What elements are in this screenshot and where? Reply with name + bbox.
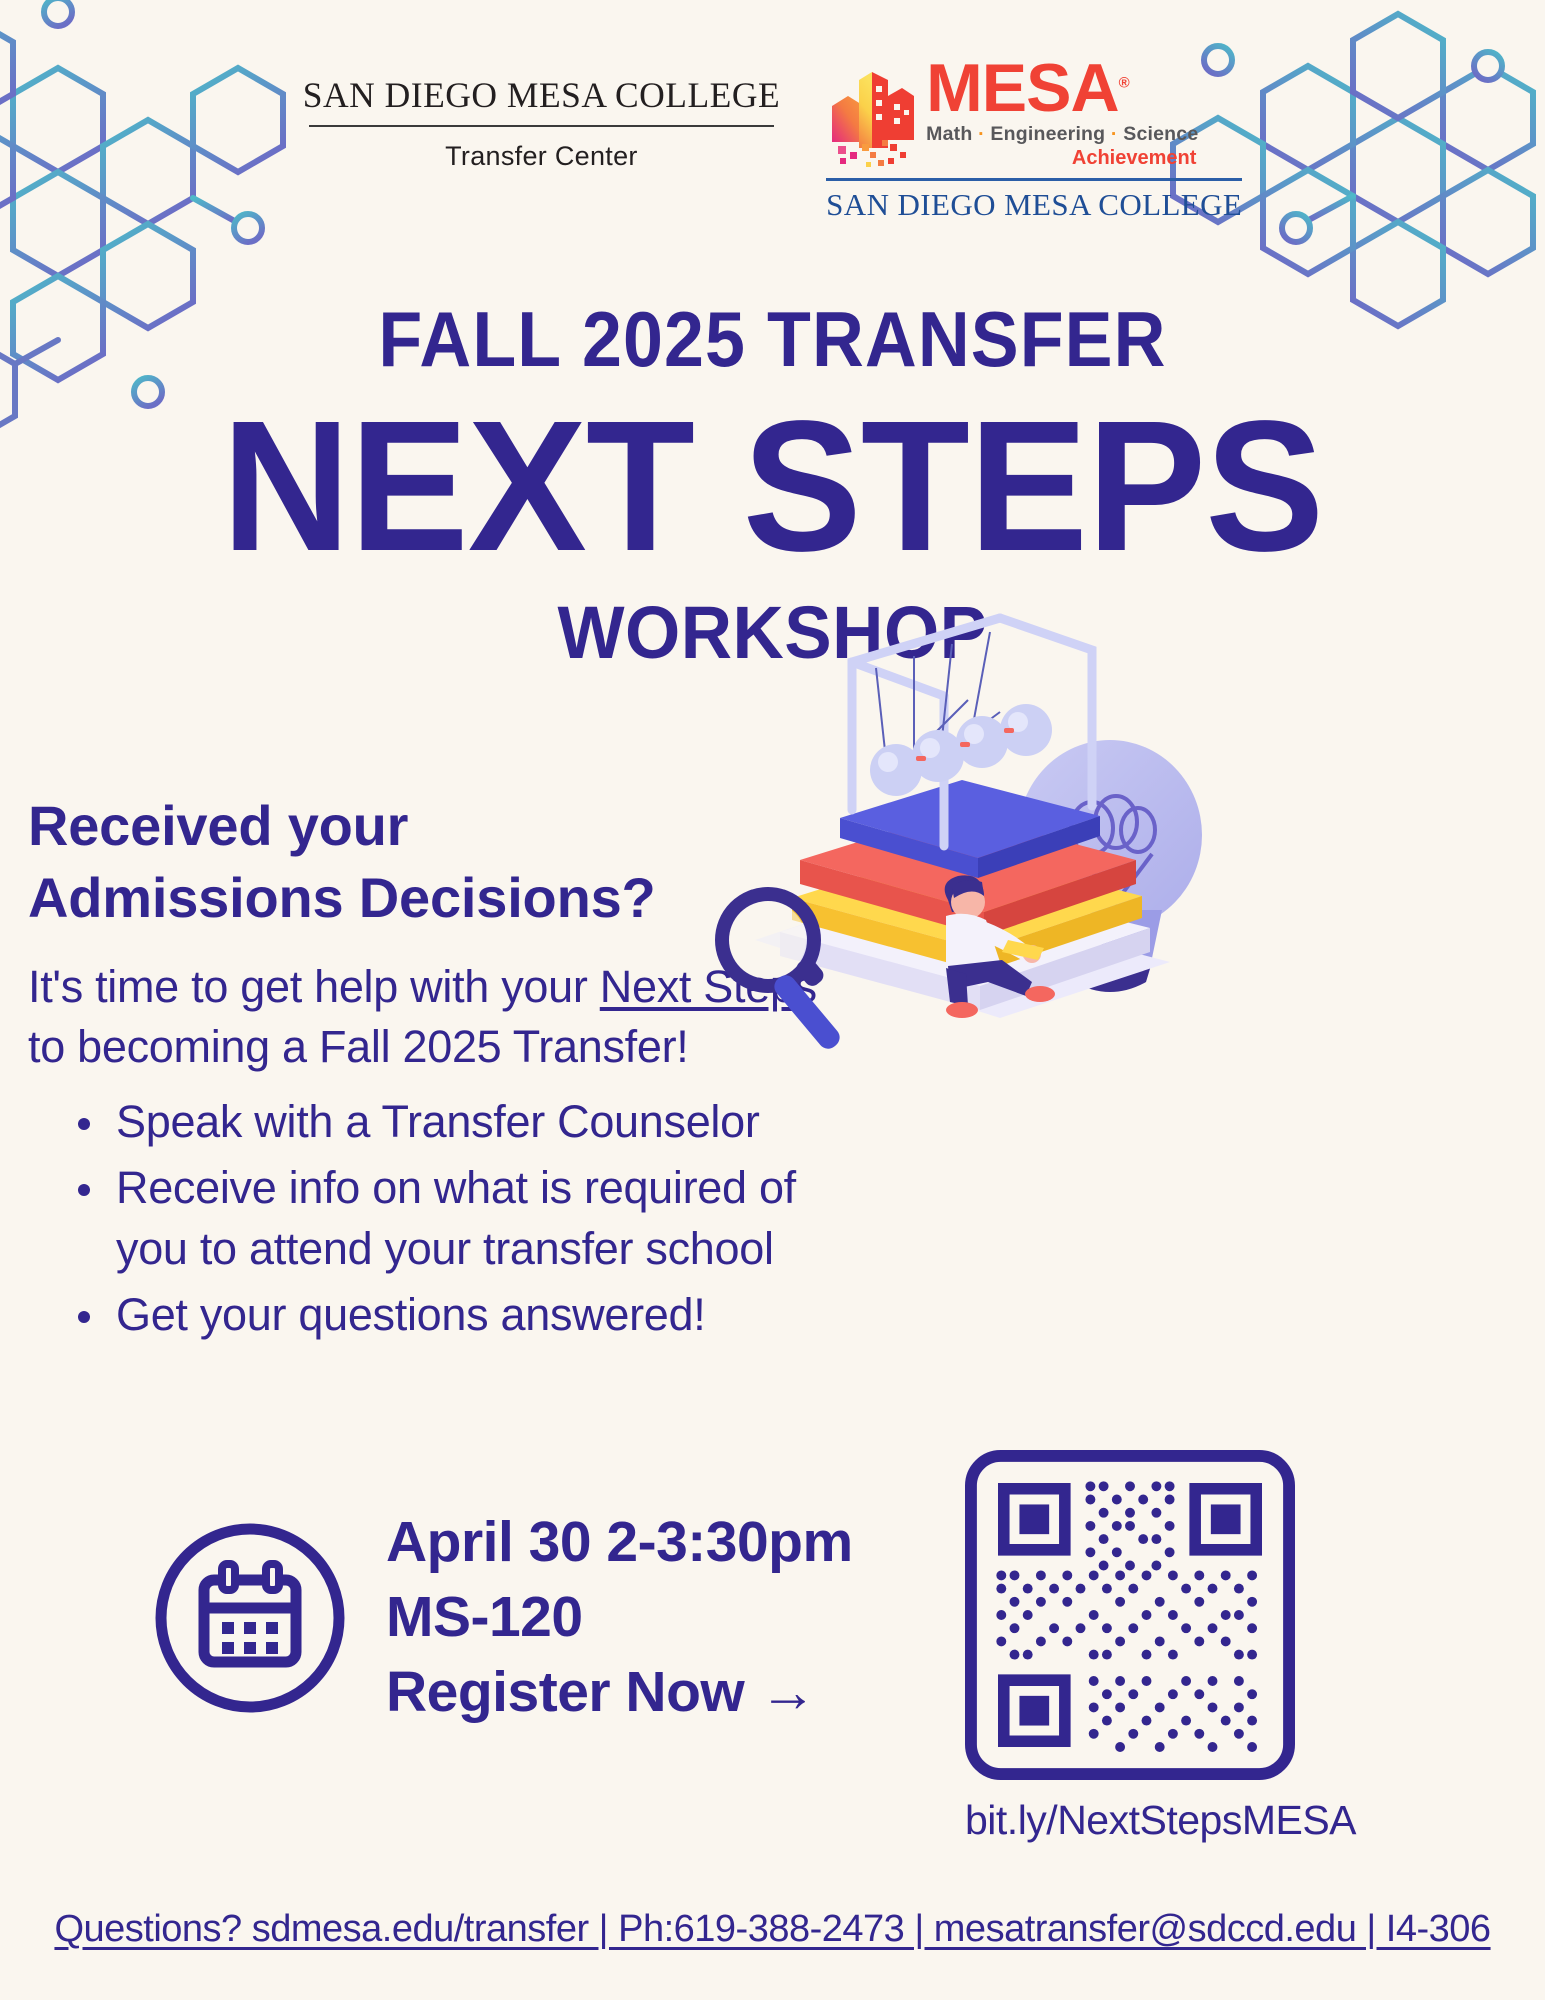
mesa-acronym: MESA® [926, 56, 1129, 121]
poster-canvas: San Diego Mesa College Transfer Center [0, 0, 1545, 2000]
page-title: NEXT STEPS [31, 392, 1514, 582]
mesa-achievement-label: Achievement [926, 147, 1198, 170]
event-location: MS-120 [386, 1580, 853, 1655]
qr-section: bit.ly/NextStepsMESA [965, 1450, 1295, 1844]
header-logos: San Diego Mesa College Transfer Center [0, 52, 1545, 223]
kicker-text: FALL 2025 TRANSFER [62, 300, 1483, 378]
mesa-logo: MESA® Math · Engineering · Science Achie… [826, 52, 1242, 223]
mesa-college-label: San Diego Mesa College [826, 187, 1242, 223]
qr-url-label[interactable]: bit.ly/NextStepsMESA [965, 1797, 1295, 1844]
transfer-center-label: Transfer Center [303, 141, 780, 172]
mesa-buildings-icon [826, 52, 918, 172]
registered-trademark-icon: ® [1119, 74, 1129, 91]
footer: Questions? sdmesa.edu/transfer | Ph:619-… [0, 1908, 1545, 1951]
list-item: Get your questions answered! [74, 1285, 818, 1345]
benefits-list: Speak with a Transfer Counselor Receive … [28, 1092, 818, 1345]
college-name: San Diego Mesa College [303, 74, 780, 116]
mesa-tagline: Math · Engineering · Science [926, 123, 1198, 146]
logo-divider [309, 125, 774, 127]
lede-before: It's time to get help with your [28, 961, 600, 1012]
list-item: Receive info on what is required of you … [74, 1158, 818, 1279]
calendar-icon [150, 1518, 350, 1718]
event-details: April 30 2-3:30pm MS-120 Register Now → [150, 1505, 853, 1731]
qr-code[interactable] [965, 1450, 1295, 1780]
mesa-divider [826, 178, 1242, 181]
science-illustration [700, 610, 1230, 1080]
list-item: Speak with a Transfer Counselor [74, 1092, 818, 1152]
san-diego-mesa-college-logo: San Diego Mesa College Transfer Center [303, 52, 780, 172]
lede-after: to becoming a Fall 2025 Transfer! [28, 1021, 688, 1072]
contact-info[interactable]: Questions? sdmesa.edu/transfer | Ph:619-… [54, 1908, 1490, 1950]
register-now-cta[interactable]: Register Now → [386, 1655, 853, 1730]
event-datetime: April 30 2-3:30pm [386, 1505, 853, 1580]
